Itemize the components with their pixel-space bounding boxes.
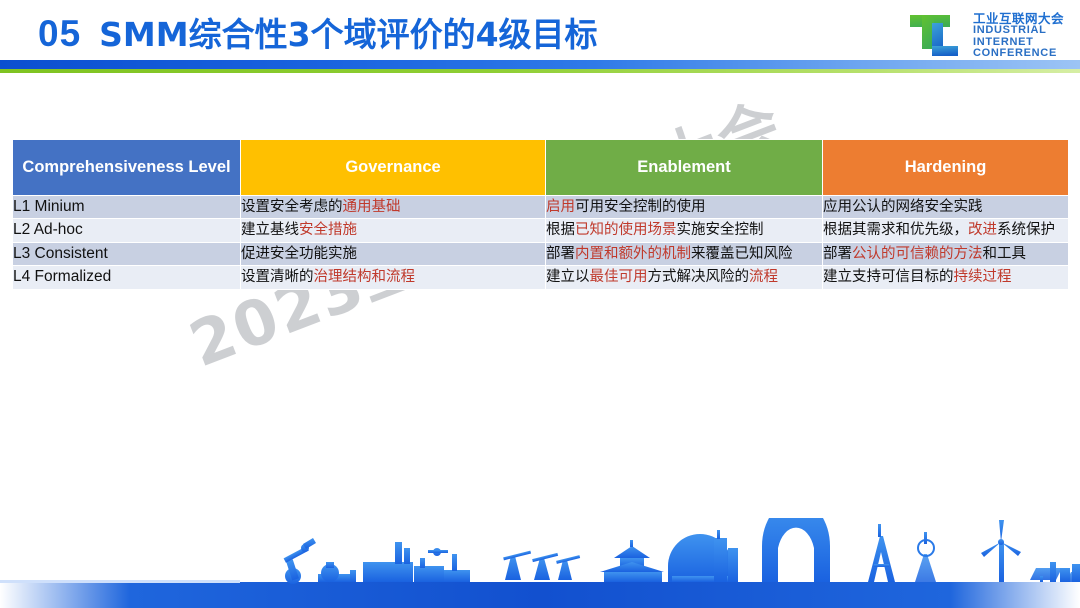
- cell-hardening: 部署公认的可信赖的方法和工具: [823, 242, 1069, 265]
- highlighted-text: 持续过程: [954, 269, 1012, 285]
- section-number: 05: [38, 13, 81, 55]
- column-header-comprehensiveness-level: Comprehensiveness Level: [13, 140, 241, 196]
- plain-text: 实施安全控制: [677, 222, 764, 238]
- cell-enablement: 建立以最佳可用方式解决风险的流程: [546, 266, 823, 289]
- plain-text: 部署: [546, 246, 575, 262]
- highlighted-text: 通用基础: [343, 199, 401, 215]
- highlighted-text: 已知的使用场景: [575, 222, 677, 238]
- cell-hardening: 建立支持可信目标的持续过程: [823, 266, 1069, 289]
- plain-text: 部署: [823, 246, 852, 262]
- maturity-table: Comprehensiveness Level Governance Enabl…: [12, 139, 1069, 290]
- cell-level: L4 Formalized: [13, 266, 241, 289]
- highlighted-text: 安全措施: [299, 222, 357, 238]
- table-row: L1 Minium 设置安全考虑的通用基础 启用可用安全控制的使用 应用公认的网…: [13, 196, 1069, 219]
- cell-level: L3 Consistent: [13, 242, 241, 265]
- industrial-internet-mark-icon: [908, 10, 964, 62]
- plain-text: 设置清晰的: [241, 269, 314, 285]
- plain-text: 和工具: [983, 246, 1027, 262]
- plain-text: 来覆盖已知风险: [691, 246, 793, 262]
- highlighted-text: 公认的可信赖的方法: [852, 246, 983, 262]
- cell-enablement: 部署内置和额外的机制来覆盖已知风险: [546, 242, 823, 265]
- plain-text: 促进安全功能实施: [241, 246, 357, 262]
- highlighted-text: 改进: [968, 222, 997, 238]
- table-body: L1 Minium 设置安全考虑的通用基础 启用可用安全控制的使用 应用公认的网…: [13, 196, 1069, 290]
- cell-level: L2 Ad-hoc: [13, 219, 241, 242]
- page-title: 05 SMM综合性3个域评价的4级目标: [38, 8, 598, 56]
- cell-governance: 设置清晰的治理结构和流程: [241, 266, 546, 289]
- table-header-row: Comprehensiveness Level Governance Enabl…: [13, 140, 1069, 196]
- table-row: L4 Formalized 设置清晰的治理结构和流程 建立以最佳可用方式解决风险…: [13, 266, 1069, 289]
- cell-enablement: 启用可用安全控制的使用: [546, 196, 823, 219]
- slide: 05 SMM综合性3个域评价的4级目标: [0, 0, 1080, 608]
- logo-line-conference: CONFERENCE: [973, 48, 1064, 59]
- header-rule-green: [0, 69, 1080, 73]
- plain-text: 根据: [546, 222, 575, 238]
- conference-logo: 工业互联网大会 INDUSTRIAL INTERNET CONFERENCE: [908, 10, 1064, 62]
- table-row: L3 Consistent 促进安全功能实施 部署内置和额外的机制来覆盖已知风险…: [13, 242, 1069, 265]
- plain-text: 设置安全考虑的: [241, 199, 343, 215]
- plain-text: 建立支持可信目标的: [823, 269, 954, 285]
- plain-text: 方式解决风险的: [648, 269, 750, 285]
- cell-hardening: 应用公认的网络安全实践: [823, 196, 1069, 219]
- cell-governance: 设置安全考虑的通用基础: [241, 196, 546, 219]
- column-header-hardening: Hardening: [823, 140, 1069, 196]
- plain-text: 建立以: [546, 269, 590, 285]
- column-header-governance: Governance: [241, 140, 546, 196]
- highlighted-text: 内置和额外的机制: [575, 246, 691, 262]
- column-header-enablement: Enablement: [546, 140, 823, 196]
- highlighted-text: 最佳可用: [590, 269, 648, 285]
- highlighted-text: 治理结构和流程: [314, 269, 416, 285]
- plain-text: 建立基线: [241, 222, 299, 238]
- cell-level: L1 Minium: [13, 196, 241, 219]
- highlighted-text: 流程: [749, 269, 778, 285]
- cell-hardening: 根据其需求和优先级，改进系统保护: [823, 219, 1069, 242]
- slide-header: 05 SMM综合性3个域评价的4级目标: [0, 0, 1080, 86]
- plain-text: 可用安全控制的使用: [575, 199, 706, 215]
- logo-text: 工业互联网大会 INDUSTRIAL INTERNET CONFERENCE: [973, 12, 1064, 59]
- cell-enablement: 根据已知的使用场景实施安全控制: [546, 219, 823, 242]
- plain-text: 根据其需求和优先级，: [823, 222, 968, 238]
- highlighted-text: 启用: [546, 199, 575, 215]
- cell-governance: 促进安全功能实施: [241, 242, 546, 265]
- cell-governance: 建立基线安全措施: [241, 219, 546, 242]
- plain-text: 系统保护: [997, 222, 1055, 238]
- footer-skyline: [0, 518, 1080, 608]
- plain-text: 应用公认的网络安全实践: [823, 199, 983, 215]
- table-row: L2 Ad-hoc 建立基线安全措施 根据已知的使用场景实施安全控制 根据其需求…: [13, 219, 1069, 242]
- title-text: SMM综合性3个域评价的4级目标: [99, 8, 597, 56]
